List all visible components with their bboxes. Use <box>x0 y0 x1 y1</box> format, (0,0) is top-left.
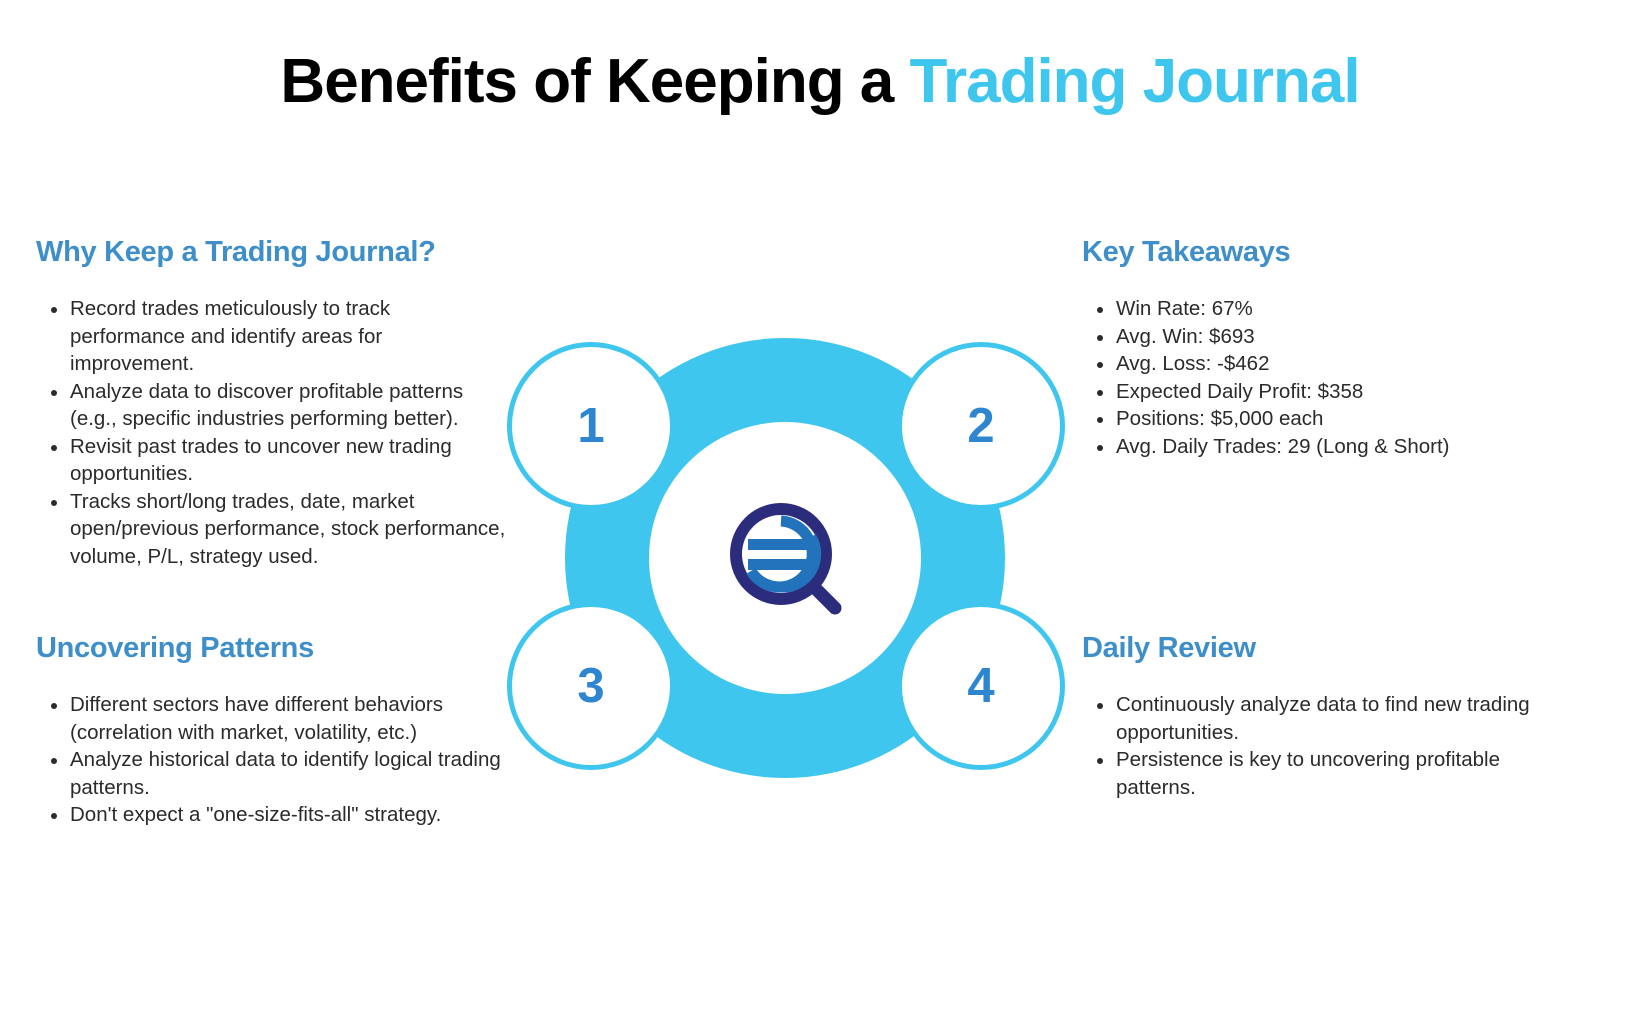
infographic-page: Benefits of Keeping a Trading Journal Wh… <box>0 0 1640 1030</box>
section-uncovering-patterns: Uncovering Patterns Different sectors ha… <box>36 632 506 829</box>
section-heading-daily-review: Daily Review <box>1082 632 1572 665</box>
donut-center-hole <box>649 422 921 694</box>
list-item: Positions: $5,000 each <box>1082 405 1560 433</box>
list-item: Revisit past trades to uncover new tradi… <box>36 433 506 488</box>
page-title-main: Benefits of Keeping a <box>280 47 909 116</box>
diagram-node-2-label: 2 <box>967 398 994 454</box>
central-diagram: 1 2 3 4 <box>497 320 1075 780</box>
list-item: Analyze historical data to identify logi… <box>36 746 506 801</box>
uncovering-patterns-bullet-list: Different sectors have different behavio… <box>36 691 506 829</box>
diagram-node-4[interactable]: 4 <box>897 602 1065 770</box>
section-heading-key-takeaways: Key Takeaways <box>1082 236 1560 269</box>
diagram-node-1[interactable]: 1 <box>507 342 675 510</box>
list-item: Win Rate: 67% <box>1082 295 1560 323</box>
section-key-takeaways: Key Takeaways Win Rate: 67% Avg. Win: $6… <box>1082 236 1560 460</box>
list-item: Don't expect a "one-size-fits-all" strat… <box>36 801 506 829</box>
daily-review-bullet-list: Continuously analyze data to find new tr… <box>1082 691 1572 801</box>
list-item: Expected Daily Profit: $358 <box>1082 378 1560 406</box>
list-item: Avg. Loss: -$462 <box>1082 350 1560 378</box>
diagram-node-3-label: 3 <box>577 658 604 714</box>
diagram-node-1-label: 1 <box>577 398 604 454</box>
diagram-node-3[interactable]: 3 <box>507 602 675 770</box>
list-item: Record trades meticulously to track perf… <box>36 295 506 378</box>
list-item: Different sectors have different behavio… <box>36 691 506 746</box>
section-heading-why-keep: Why Keep a Trading Journal? <box>36 236 506 269</box>
section-why-keep-a-trading-journal: Why Keep a Trading Journal? Record trade… <box>36 236 506 570</box>
list-item: Avg. Win: $693 <box>1082 323 1560 351</box>
diagram-node-4-label: 4 <box>967 658 994 714</box>
list-item: Tracks short/long trades, date, market o… <box>36 488 506 571</box>
page-title: Benefits of Keeping a Trading Journal <box>0 48 1640 116</box>
list-item: Analyze data to discover profitable patt… <box>36 378 506 433</box>
why-keep-bullet-list: Record trades meticulously to track perf… <box>36 295 506 570</box>
diagram-node-2[interactable]: 2 <box>897 342 1065 510</box>
list-item: Persistence is key to uncovering profita… <box>1082 746 1572 801</box>
brand-logo <box>723 496 847 620</box>
list-item: Continuously analyze data to find new tr… <box>1082 691 1572 746</box>
section-heading-uncovering-patterns: Uncovering Patterns <box>36 632 506 665</box>
magnifier-s-logo-icon <box>723 496 847 620</box>
list-item: Avg. Daily Trades: 29 (Long & Short) <box>1082 433 1560 461</box>
key-takeaways-bullet-list: Win Rate: 67% Avg. Win: $693 Avg. Loss: … <box>1082 295 1560 460</box>
section-daily-review: Daily Review Continuously analyze data t… <box>1082 632 1572 801</box>
page-title-accent: Trading Journal <box>910 47 1360 116</box>
